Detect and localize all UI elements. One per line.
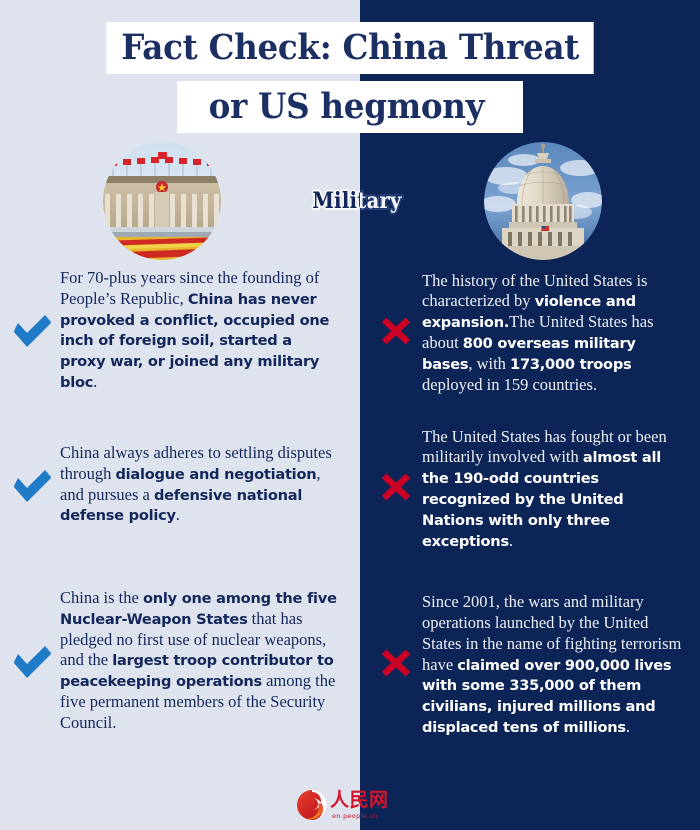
list-item-text: The United States has fought or been mil… — [422, 427, 682, 552]
list-item: Since 2001, the wars and military operat… — [360, 580, 700, 750]
title-line-1: Fact Check: China Threat — [106, 22, 594, 74]
list-item: China always adheres to settling dispute… — [0, 435, 360, 535]
logo-swirl-icon — [296, 789, 328, 826]
list-item-text: Since 2001, the wars and military operat… — [422, 592, 682, 737]
infographic-poster: Fact Check: China Threat or US hegmony — [0, 0, 700, 830]
logo-chinese-name: 人民网 — [330, 789, 389, 811]
cross-mark-icon — [378, 313, 414, 353]
double-check-icon — [14, 310, 54, 350]
emphasis-text: claimed over 900,000 lives with some 335… — [422, 657, 671, 736]
list-item-text: The history of the United States is char… — [422, 271, 682, 396]
plain-text: , with — [468, 354, 510, 373]
double-check-icon — [14, 641, 54, 681]
section-label-right-half: Military Military — [360, 186, 409, 216]
list-item: The history of the United States is char… — [360, 268, 700, 398]
emphasis-text: 173,000 troops — [510, 356, 631, 373]
list-item-text: China is the only one among the five Nuc… — [60, 588, 338, 733]
us-capitol-dome-photo — [484, 142, 602, 260]
people-daily-online-logo[interactable]: 人民网 en.people.cn — [296, 789, 408, 823]
list-item: For 70-plus years since the founding of … — [0, 268, 360, 393]
double-check-icon — [14, 465, 54, 505]
list-item: The United States has fought or been mil… — [360, 426, 700, 552]
list-item-text: For 70-plus years since the founding of … — [60, 268, 338, 393]
us-column: The history of the United States is char… — [360, 268, 700, 760]
title-line-2: or US hegmony — [177, 81, 523, 133]
plain-text: China is the — [60, 588, 143, 607]
section-label-fill-right: Military — [360, 186, 403, 216]
plain-text: . — [626, 717, 630, 736]
logo-url: en.people.cn — [332, 812, 378, 820]
cross-mark-icon — [378, 645, 414, 685]
plain-text: . — [176, 505, 180, 524]
great-hall-of-the-people-photo — [103, 142, 221, 260]
list-item-text: China always adheres to settling dispute… — [60, 443, 338, 526]
emphasis-text: dialogue and negotiation — [115, 466, 316, 483]
logo-text-group: 人民网 en.people.cn — [330, 789, 389, 820]
section-label-military: Military Military Military Military — [305, 186, 409, 216]
plain-text: . — [93, 372, 97, 391]
china-column: For 70-plus years since the founding of … — [0, 268, 360, 749]
page-title: Fact Check: China Threat or US hegmony — [0, 22, 700, 133]
plain-text: deployed in 159 countries. — [422, 375, 597, 394]
cross-mark-icon — [378, 469, 414, 509]
list-item: China is the only one among the five Nuc… — [0, 583, 360, 739]
plain-text: . — [509, 531, 513, 550]
